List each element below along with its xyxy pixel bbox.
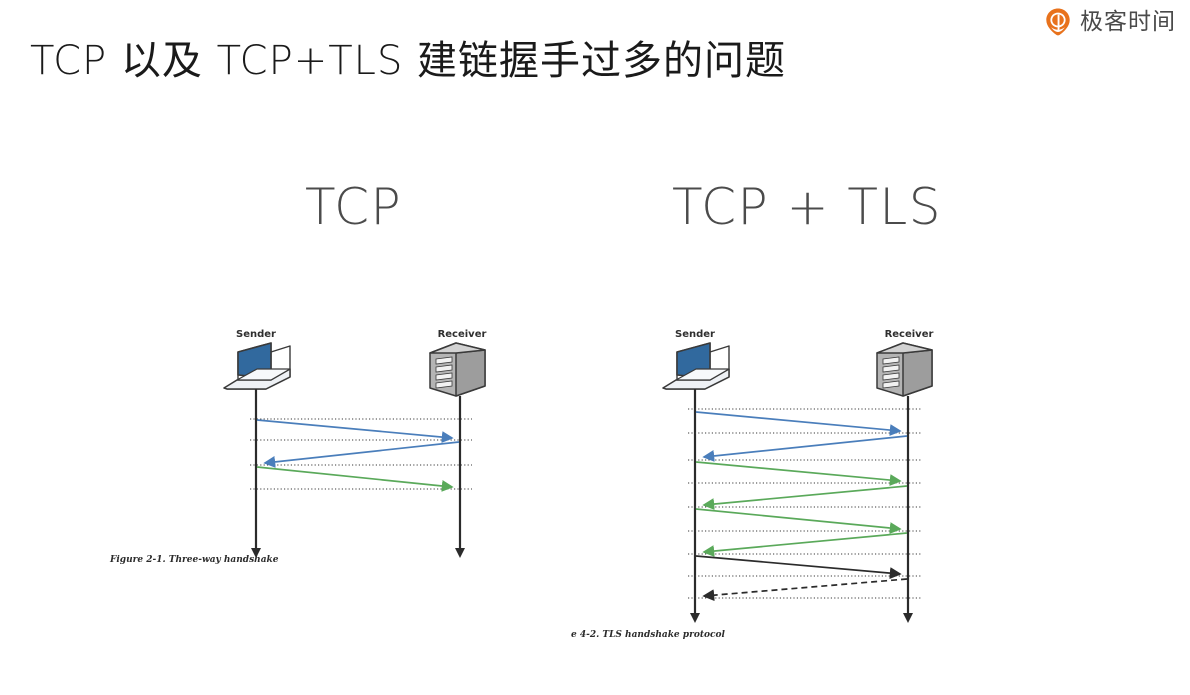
figure-caption-tls: e 4-2. TLS handshake protocol <box>571 630 725 640</box>
figure-caption-tcp: Figure 2-1. Three-way handshake <box>110 555 279 565</box>
page-title: TCP 以及 TCP+TLS 建链握手过多的问题 <box>30 28 786 86</box>
message-arrow-5 <box>696 509 900 529</box>
message-arrow-3 <box>696 462 900 481</box>
receiver-label: Receiver <box>438 329 487 340</box>
sender-lifeline-arrow <box>690 613 700 623</box>
laptop-icon <box>224 343 290 389</box>
message-arrow-8 <box>704 579 907 596</box>
figure-tcp-handshake: Sender Receiver <box>100 320 500 575</box>
laptop-icon <box>663 343 729 389</box>
column-heading-tcp-tls: TCP + TLS <box>672 178 942 236</box>
sender-label: Sender <box>236 329 276 340</box>
column-heading-tcp: TCP <box>305 178 402 236</box>
server-icon <box>430 343 485 396</box>
server-icon <box>877 343 932 396</box>
brand-logo: 极客时间 <box>1043 7 1176 37</box>
message-arrow-2 <box>704 436 907 457</box>
message-arrow-1 <box>696 412 900 431</box>
message-arrow-1 <box>257 420 452 438</box>
message-arrow-7 <box>696 556 900 574</box>
receiver-lifeline-arrow <box>903 613 913 623</box>
geektime-pin-icon <box>1043 7 1073 37</box>
sender-label: Sender <box>675 329 715 340</box>
message-arrow-2 <box>265 442 459 463</box>
message-arrow-3 <box>257 467 452 487</box>
slide-canvas: 极客时间 TCP 以及 TCP+TLS 建链握手过多的问题 TCP TCP + … <box>0 0 1190 695</box>
figure-tls-handshake: Sender Receiver <box>560 320 960 645</box>
brand-name: 极客时间 <box>1080 11 1176 34</box>
receiver-lifeline-arrow <box>455 548 465 558</box>
message-arrow-6 <box>704 533 907 552</box>
receiver-label: Receiver <box>885 329 934 340</box>
message-arrow-4 <box>704 486 907 505</box>
